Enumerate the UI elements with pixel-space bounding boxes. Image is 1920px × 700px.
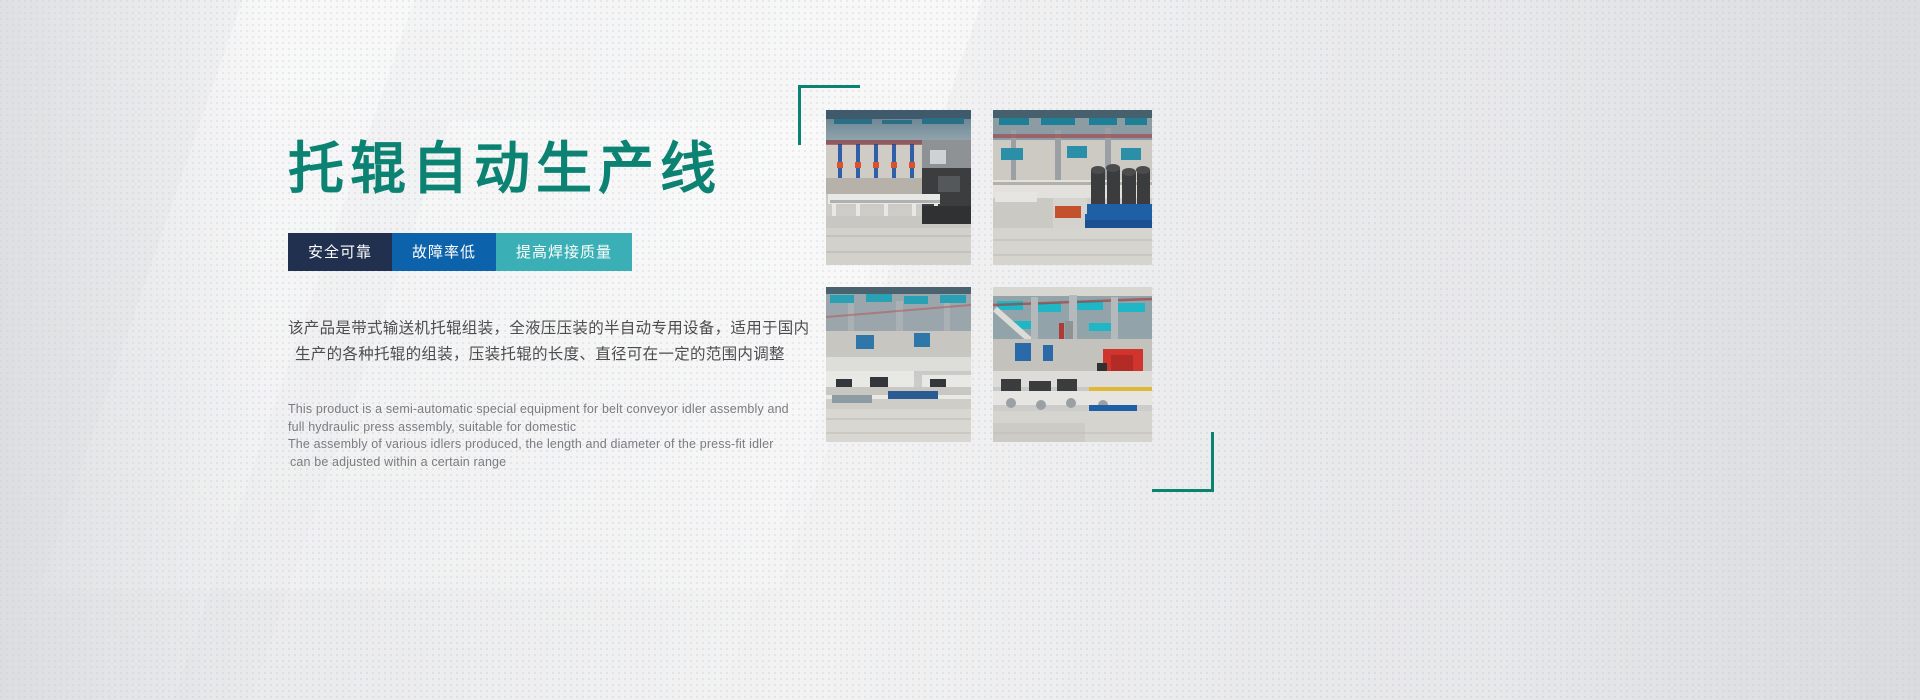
photo-workshop-equipment-image (993, 110, 1152, 265)
badge-low-failure-rate[interactable]: 故障率低 (392, 233, 496, 271)
description-english-line-4: can be adjusted within a certain range (288, 454, 808, 472)
feature-badge-group: 安全可靠 故障率低 提高焊接质量 (288, 233, 808, 271)
banner-content: 托辊自动生产线 安全可靠 故障率低 提高焊接质量 该产品是带式输送机托辊组装，全… (288, 140, 808, 471)
photo-assembly-machines[interactable] (826, 287, 971, 442)
description-chinese-line-2: 生产的各种托辊的组装，压装托辊的长度、直径可在一定的范围内调整 (288, 341, 808, 367)
description-english-line-3: The assembly of various idlers produced,… (288, 436, 808, 454)
photo-conveyor-idler-line[interactable] (826, 110, 971, 265)
description-chinese-line-1: 该产品是带式输送机托辊组装，全液压压装的半自动专用设备，适用于国内 (288, 315, 808, 341)
description-english: This product is a semi-automatic special… (288, 401, 808, 471)
description-english-line-1: This product is a semi-automatic special… (288, 401, 808, 419)
description-english-paragraph-1: This product is a semi-automatic special… (288, 401, 808, 436)
product-banner: 托辊自动生产线 安全可靠 故障率低 提高焊接质量 该产品是带式输送机托辊组装，全… (0, 0, 1920, 700)
photo-conveyor-idler-line-image (826, 110, 971, 265)
description-english-line-2: full hydraulic press assembly, suitable … (288, 419, 808, 437)
photo-red-press-machine-image (993, 287, 1152, 442)
photo-gallery (826, 110, 1152, 442)
page-title: 托辊自动生产线 (288, 140, 808, 199)
photo-red-press-machine[interactable] (993, 287, 1152, 442)
description-english-paragraph-2: The assembly of various idlers produced,… (288, 436, 808, 471)
photo-assembly-machines-image (826, 287, 971, 442)
badge-safe-reliable[interactable]: 安全可靠 (288, 233, 392, 271)
photo-workshop-equipment[interactable] (993, 110, 1152, 265)
photo-grid (826, 110, 1152, 442)
description-chinese: 该产品是带式输送机托辊组装，全液压压装的半自动专用设备，适用于国内 生产的各种托… (288, 315, 808, 367)
corner-bracket-bottom-right-icon (1152, 432, 1214, 492)
badge-improve-welding-quality[interactable]: 提高焊接质量 (496, 233, 632, 271)
